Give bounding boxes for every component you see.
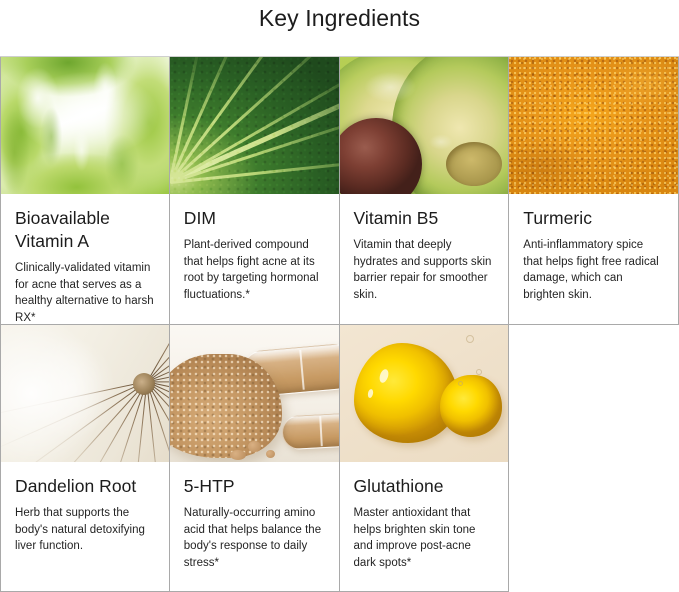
- yellow-droplets-photo: [340, 325, 509, 462]
- ingredient-card-turmeric[interactable]: Turmeric Anti-inflammatory spice that he…: [509, 57, 679, 325]
- ingredients-row-1: Bioavailable Vitamin A Clinically-valida…: [0, 57, 679, 325]
- ingredient-description: Master antioxidant that helps brighten s…: [354, 505, 496, 571]
- ingredients-grid: Bioavailable Vitamin A Clinically-valida…: [0, 56, 679, 592]
- ingredient-card-glutathione[interactable]: Glutathione Master antioxidant that help…: [340, 325, 510, 592]
- ingredient-card-5-htp[interactable]: 5-HTP Naturally-occurring amino acid tha…: [170, 325, 340, 592]
- ingredient-description: Vitamin that deeply hydrates and support…: [354, 237, 496, 303]
- ingredient-description: Herb that supports the body's natural de…: [15, 505, 156, 555]
- ingredient-title: Turmeric: [523, 207, 665, 230]
- ingredient-title: 5-HTP: [184, 475, 326, 498]
- ingredient-card-empty-slot: [509, 325, 679, 592]
- ingredient-description: Naturally-occurring amino acid that help…: [184, 505, 326, 571]
- ingredients-row-2: Dandelion Root Herb that supports the bo…: [0, 325, 679, 592]
- card-body: DIM Plant-derived compound that helps fi…: [170, 194, 339, 324]
- ingredient-title: DIM: [184, 207, 326, 230]
- card-body: Vitamin B5 Vitamin that deeply hydrates …: [340, 194, 509, 324]
- ingredient-title: Bioavailable Vitamin A: [15, 207, 156, 253]
- cabbage-leaf-photo: [170, 57, 339, 194]
- avocado-photo: [340, 57, 509, 194]
- ingredient-title: Dandelion Root: [15, 475, 156, 498]
- card-body: Dandelion Root Herb that supports the bo…: [1, 462, 169, 591]
- card-body: Bioavailable Vitamin A Clinically-valida…: [1, 194, 169, 336]
- page-title: Key Ingredients: [0, 0, 679, 33]
- ingredient-description: Plant-derived compound that helps fight …: [184, 237, 326, 303]
- ingredient-card-dandelion-root[interactable]: Dandelion Root Herb that supports the bo…: [0, 325, 170, 592]
- card-body: Glutathione Master antioxidant that help…: [340, 462, 509, 591]
- card-body: Turmeric Anti-inflammatory spice that he…: [509, 194, 678, 324]
- ingredient-description: Anti-inflammatory spice that helps fight…: [523, 237, 665, 303]
- card-body: 5-HTP Naturally-occurring amino acid tha…: [170, 462, 339, 591]
- ingredient-card-bioavailable-vitamin-a[interactable]: Bioavailable Vitamin A Clinically-valida…: [0, 57, 170, 325]
- ingredient-description: Clinically-validated vitamin for acne th…: [15, 260, 156, 326]
- key-ingredients-page: Key Ingredients Bioavailable Vitamin A C…: [0, 0, 679, 592]
- ingredient-title: Glutathione: [354, 475, 496, 498]
- ingredient-title: Vitamin B5: [354, 207, 496, 230]
- lettuce-photo: [1, 57, 169, 194]
- ingredient-card-vitamin-b5[interactable]: Vitamin B5 Vitamin that deeply hydrates …: [340, 57, 510, 325]
- powder-capsules-photo: [170, 325, 339, 462]
- dandelion-seedhead-photo: [1, 325, 169, 462]
- ingredient-card-dim[interactable]: DIM Plant-derived compound that helps fi…: [170, 57, 340, 325]
- turmeric-powder-photo: [509, 57, 678, 194]
